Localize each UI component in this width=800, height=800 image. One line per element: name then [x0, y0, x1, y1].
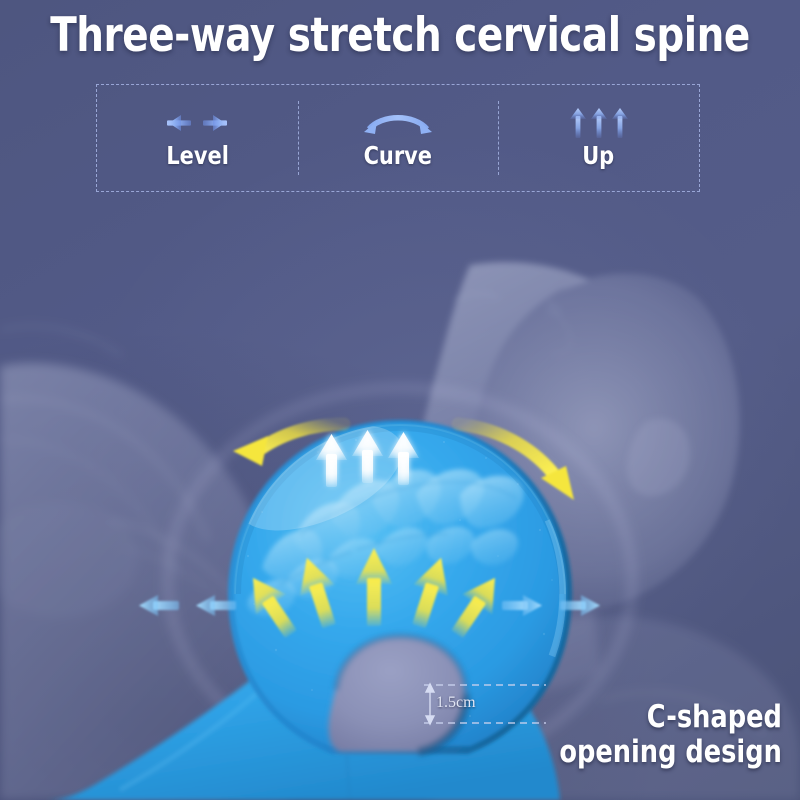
- measurement-callout: [0, 0, 800, 800]
- vertical-dimension-arrow-icon: [426, 684, 434, 724]
- measurement-value: 1.5cm: [436, 694, 476, 712]
- caption-line-2: opening design: [559, 735, 782, 770]
- caption-line-1: C-shaped: [559, 700, 782, 735]
- product-infographic: Three-way stretch cervical spine: [0, 0, 800, 800]
- caption-c-shaped-opening: C-shaped opening design: [559, 700, 782, 770]
